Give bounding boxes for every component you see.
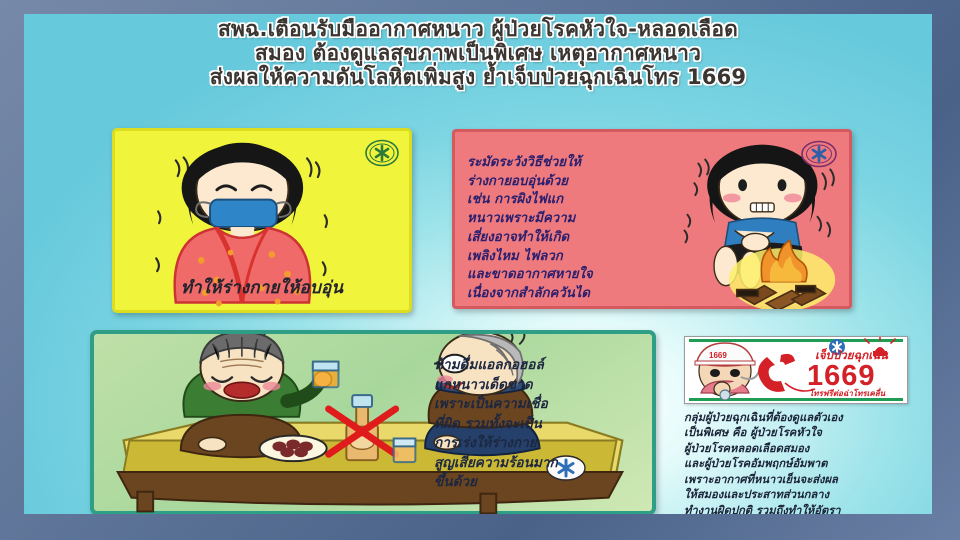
star-of-life-emblem xyxy=(801,140,837,168)
panel-green-body: ห้ามดื่มแอลกอฮอล์ แกหนาวเด็ดขาด เพราะเป็… xyxy=(434,356,648,493)
emergency-1669-logo-graphic: 1669 xyxy=(685,337,907,403)
panel-fire-warning: ระมัดระวังวิธีช่วยให้ ร่างกายอบอุ่นด้วย … xyxy=(452,129,852,309)
title-line-2: สมอง ต้องดูแลสุขภาพเป็นพิเศษ เหตุอากาศหน… xyxy=(24,42,932,66)
panel-no-alcohol: ห้ามดื่มแอลกอฮอล์ แกหนาวเด็ดขาด เพราะเป็… xyxy=(90,330,656,514)
svg-text:1669: 1669 xyxy=(709,351,727,360)
panel-red-body: ระมัดระวังวิธีช่วยให้ ร่างกายอบอุ่นด้วย … xyxy=(467,154,699,304)
svg-text:โทรฟรีต่อฉ่าโทรเคลื่น: โทรฟรีต่อฉ่าโทรเคลื่น xyxy=(809,387,886,398)
title-line-1: สพฉ.เตือนรับมืออากาศหนาว ผู้ป่วยโรคหัวใจ… xyxy=(24,18,932,42)
right-column-note: กลุ่มผู้ป่วยฉุกเฉินที่ต้องดูแลตัวเอง เป็… xyxy=(684,410,932,514)
page-title: สพฉ.เตือนรับมืออากาศหนาว ผู้ป่วยโรคหัวใจ… xyxy=(24,18,932,90)
emergency-1669-logo[interactable]: 1669 xyxy=(684,336,908,404)
title-line-3: ส่งผลให้ความดันโลหิตเพิ่มสูง ย้ำเจ็บป่วย… xyxy=(24,66,932,90)
svg-text:1669: 1669 xyxy=(807,360,876,392)
panel-yellow-caption: ทำให้ร่างกายให้อบอุ่น xyxy=(115,274,409,301)
star-of-life-emblem xyxy=(365,139,399,167)
panel-keep-warm: ทำให้ร่างกายให้อบอุ่น xyxy=(112,128,412,313)
slide-root: สพฉ.เตือนรับมืออากาศหนาว ผู้ป่วยโรคหัวใจ… xyxy=(0,0,960,540)
slide-canvas: สพฉ.เตือนรับมืออากาศหนาว ผู้ป่วยโรคหัวใจ… xyxy=(24,14,932,514)
